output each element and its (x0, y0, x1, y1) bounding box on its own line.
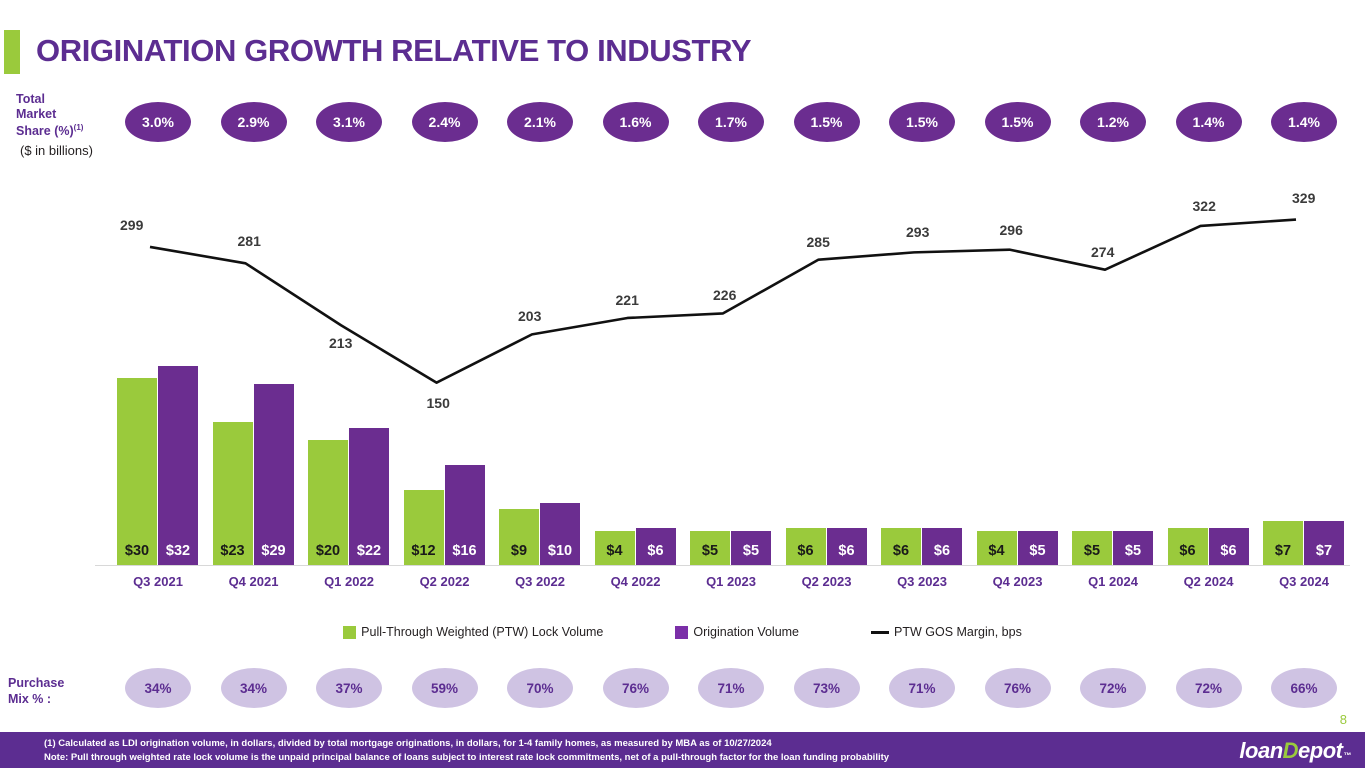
market-share-pill: 2.9% (221, 102, 287, 142)
purchase-mix-pill: 70% (507, 668, 573, 708)
legend-item-margin: PTW GOS Margin, bps (871, 625, 1022, 639)
market-share-pill: 1.4% (1176, 102, 1242, 142)
purchase-mix-pill-row: 34%34%37%59%70%76%71%73%71%76%72%72%66% (110, 668, 1355, 710)
x-axis-tick-label: Q1 2024 (1065, 574, 1161, 589)
market-share-pill: 1.5% (985, 102, 1051, 142)
line-value-label: 281 (238, 233, 261, 249)
footer-bar: (1) Calculated as LDI origination volume… (0, 732, 1365, 768)
line-value-label: 285 (807, 234, 830, 250)
ptw-gos-margin-line (0, 160, 1365, 570)
purchase-mix-pill: 73% (794, 668, 860, 708)
x-axis-labels: Q3 2021Q4 2021Q1 2022Q2 2022Q3 2022Q4 20… (110, 574, 1355, 596)
purchase-mix-pill: 59% (412, 668, 478, 708)
market-share-caption-line2: Market (16, 107, 56, 121)
purchase-mix-pill: 71% (889, 668, 955, 708)
x-axis-tick-label: Q2 2023 (779, 574, 875, 589)
x-axis-tick-label: Q3 2023 (874, 574, 970, 589)
legend-label-ptw: Pull-Through Weighted (PTW) Lock Volume (361, 625, 603, 639)
footnote-1-marker: (1) (44, 738, 56, 749)
legend-item-ptw: Pull-Through Weighted (PTW) Lock Volume (343, 625, 603, 639)
market-share-pill: 1.7% (698, 102, 764, 142)
footnote-1-text: Calculated as LDI origination volume, in… (58, 738, 771, 749)
market-share-pill: 1.4% (1271, 102, 1337, 142)
line-value-label: 150 (427, 395, 450, 411)
market-share-pill: 1.5% (794, 102, 860, 142)
logo-text-part3: epot (1298, 738, 1342, 764)
line-value-label: 213 (329, 335, 352, 351)
x-axis-tick-label: Q3 2024 (1256, 574, 1352, 589)
line-value-label: 274 (1091, 244, 1114, 260)
purchase-mix-pill: 37% (316, 668, 382, 708)
line-value-label: 299 (120, 217, 143, 233)
x-axis-tick-label: Q2 2022 (397, 574, 493, 589)
logo-d-mark-icon: D (1283, 738, 1298, 764)
footnote-2: Note: Pull through weighted rate lock vo… (44, 751, 889, 765)
line-value-label: 221 (616, 292, 639, 308)
market-share-caption-line1: Total (16, 92, 45, 106)
legend-label-origination: Origination Volume (693, 625, 799, 639)
page-number: 8 (1340, 712, 1347, 727)
x-axis-tick-label: Q1 2023 (683, 574, 779, 589)
line-value-label: 226 (713, 287, 736, 303)
line-value-label: 296 (1000, 222, 1023, 238)
market-share-caption-line3: Share (%) (16, 124, 74, 138)
units-caption: ($ in billions) (20, 143, 130, 158)
legend-swatch-margin-icon (871, 631, 889, 634)
logo-trademark-icon: ™ (1344, 751, 1352, 760)
legend-item-origination: Origination Volume (675, 625, 799, 639)
chart-plot-area: $30$32$23$29$20$22$12$16$9$10$4$6$5$5$6$… (0, 160, 1365, 570)
chart-legend: Pull-Through Weighted (PTW) Lock Volume … (0, 620, 1365, 644)
line-value-label: 293 (906, 224, 929, 240)
legend-swatch-origination-icon (675, 626, 688, 639)
market-share-pill: 2.4% (412, 102, 478, 142)
purchase-mix-pill: 34% (221, 668, 287, 708)
slide: ORIGINATION GROWTH RELATIVE TO INDUSTRY … (0, 0, 1365, 768)
legend-swatch-ptw-icon (343, 626, 356, 639)
line-value-label: 322 (1193, 198, 1216, 214)
legend-label-margin: PTW GOS Margin, bps (894, 625, 1022, 639)
purchase-mix-pill: 71% (698, 668, 764, 708)
market-share-pill: 3.1% (316, 102, 382, 142)
x-axis-tick-label: Q1 2022 (301, 574, 397, 589)
x-axis-tick-label: Q3 2021 (110, 574, 206, 589)
purchase-mix-caption-line2: Mix % : (8, 692, 51, 706)
purchase-mix-pill: 34% (125, 668, 191, 708)
purchase-mix-pill: 72% (1176, 668, 1242, 708)
logo-text-part1: loan (1239, 738, 1282, 764)
chart-baseline (95, 565, 1350, 566)
market-share-pill-row: 3.0%2.9%3.1%2.4%2.1%1.6%1.7%1.5%1.5%1.5%… (110, 102, 1355, 144)
x-axis-tick-label: Q4 2022 (588, 574, 684, 589)
market-share-pill: 1.2% (1080, 102, 1146, 142)
market-share-pill: 1.6% (603, 102, 669, 142)
purchase-mix-pill: 76% (985, 668, 1051, 708)
footnotes: (1) Calculated as LDI origination volume… (44, 737, 889, 765)
purchase-mix-caption-line1: Purchase (8, 676, 64, 690)
title-accent-bar (4, 30, 20, 74)
x-axis-tick-label: Q4 2021 (206, 574, 302, 589)
market-share-pill: 1.5% (889, 102, 955, 142)
market-share-pill: 3.0% (125, 102, 191, 142)
purchase-mix-pill: 66% (1271, 668, 1337, 708)
line-value-label: 203 (518, 308, 541, 324)
x-axis-tick-label: Q3 2022 (492, 574, 588, 589)
loandepot-logo: loanDepot™ (1239, 738, 1351, 764)
market-share-footnote-marker: (1) (74, 123, 84, 132)
market-share-pill: 2.1% (507, 102, 573, 142)
line-value-label: 329 (1292, 190, 1315, 206)
x-axis-tick-label: Q2 2024 (1161, 574, 1257, 589)
x-axis-tick-label: Q4 2023 (970, 574, 1066, 589)
purchase-mix-pill: 72% (1080, 668, 1146, 708)
footnote-1: (1) Calculated as LDI origination volume… (44, 737, 889, 751)
page-title: ORIGINATION GROWTH RELATIVE TO INDUSTRY (36, 33, 751, 69)
purchase-mix-pill: 76% (603, 668, 669, 708)
purchase-mix-caption: Purchase Mix % : (8, 676, 108, 707)
